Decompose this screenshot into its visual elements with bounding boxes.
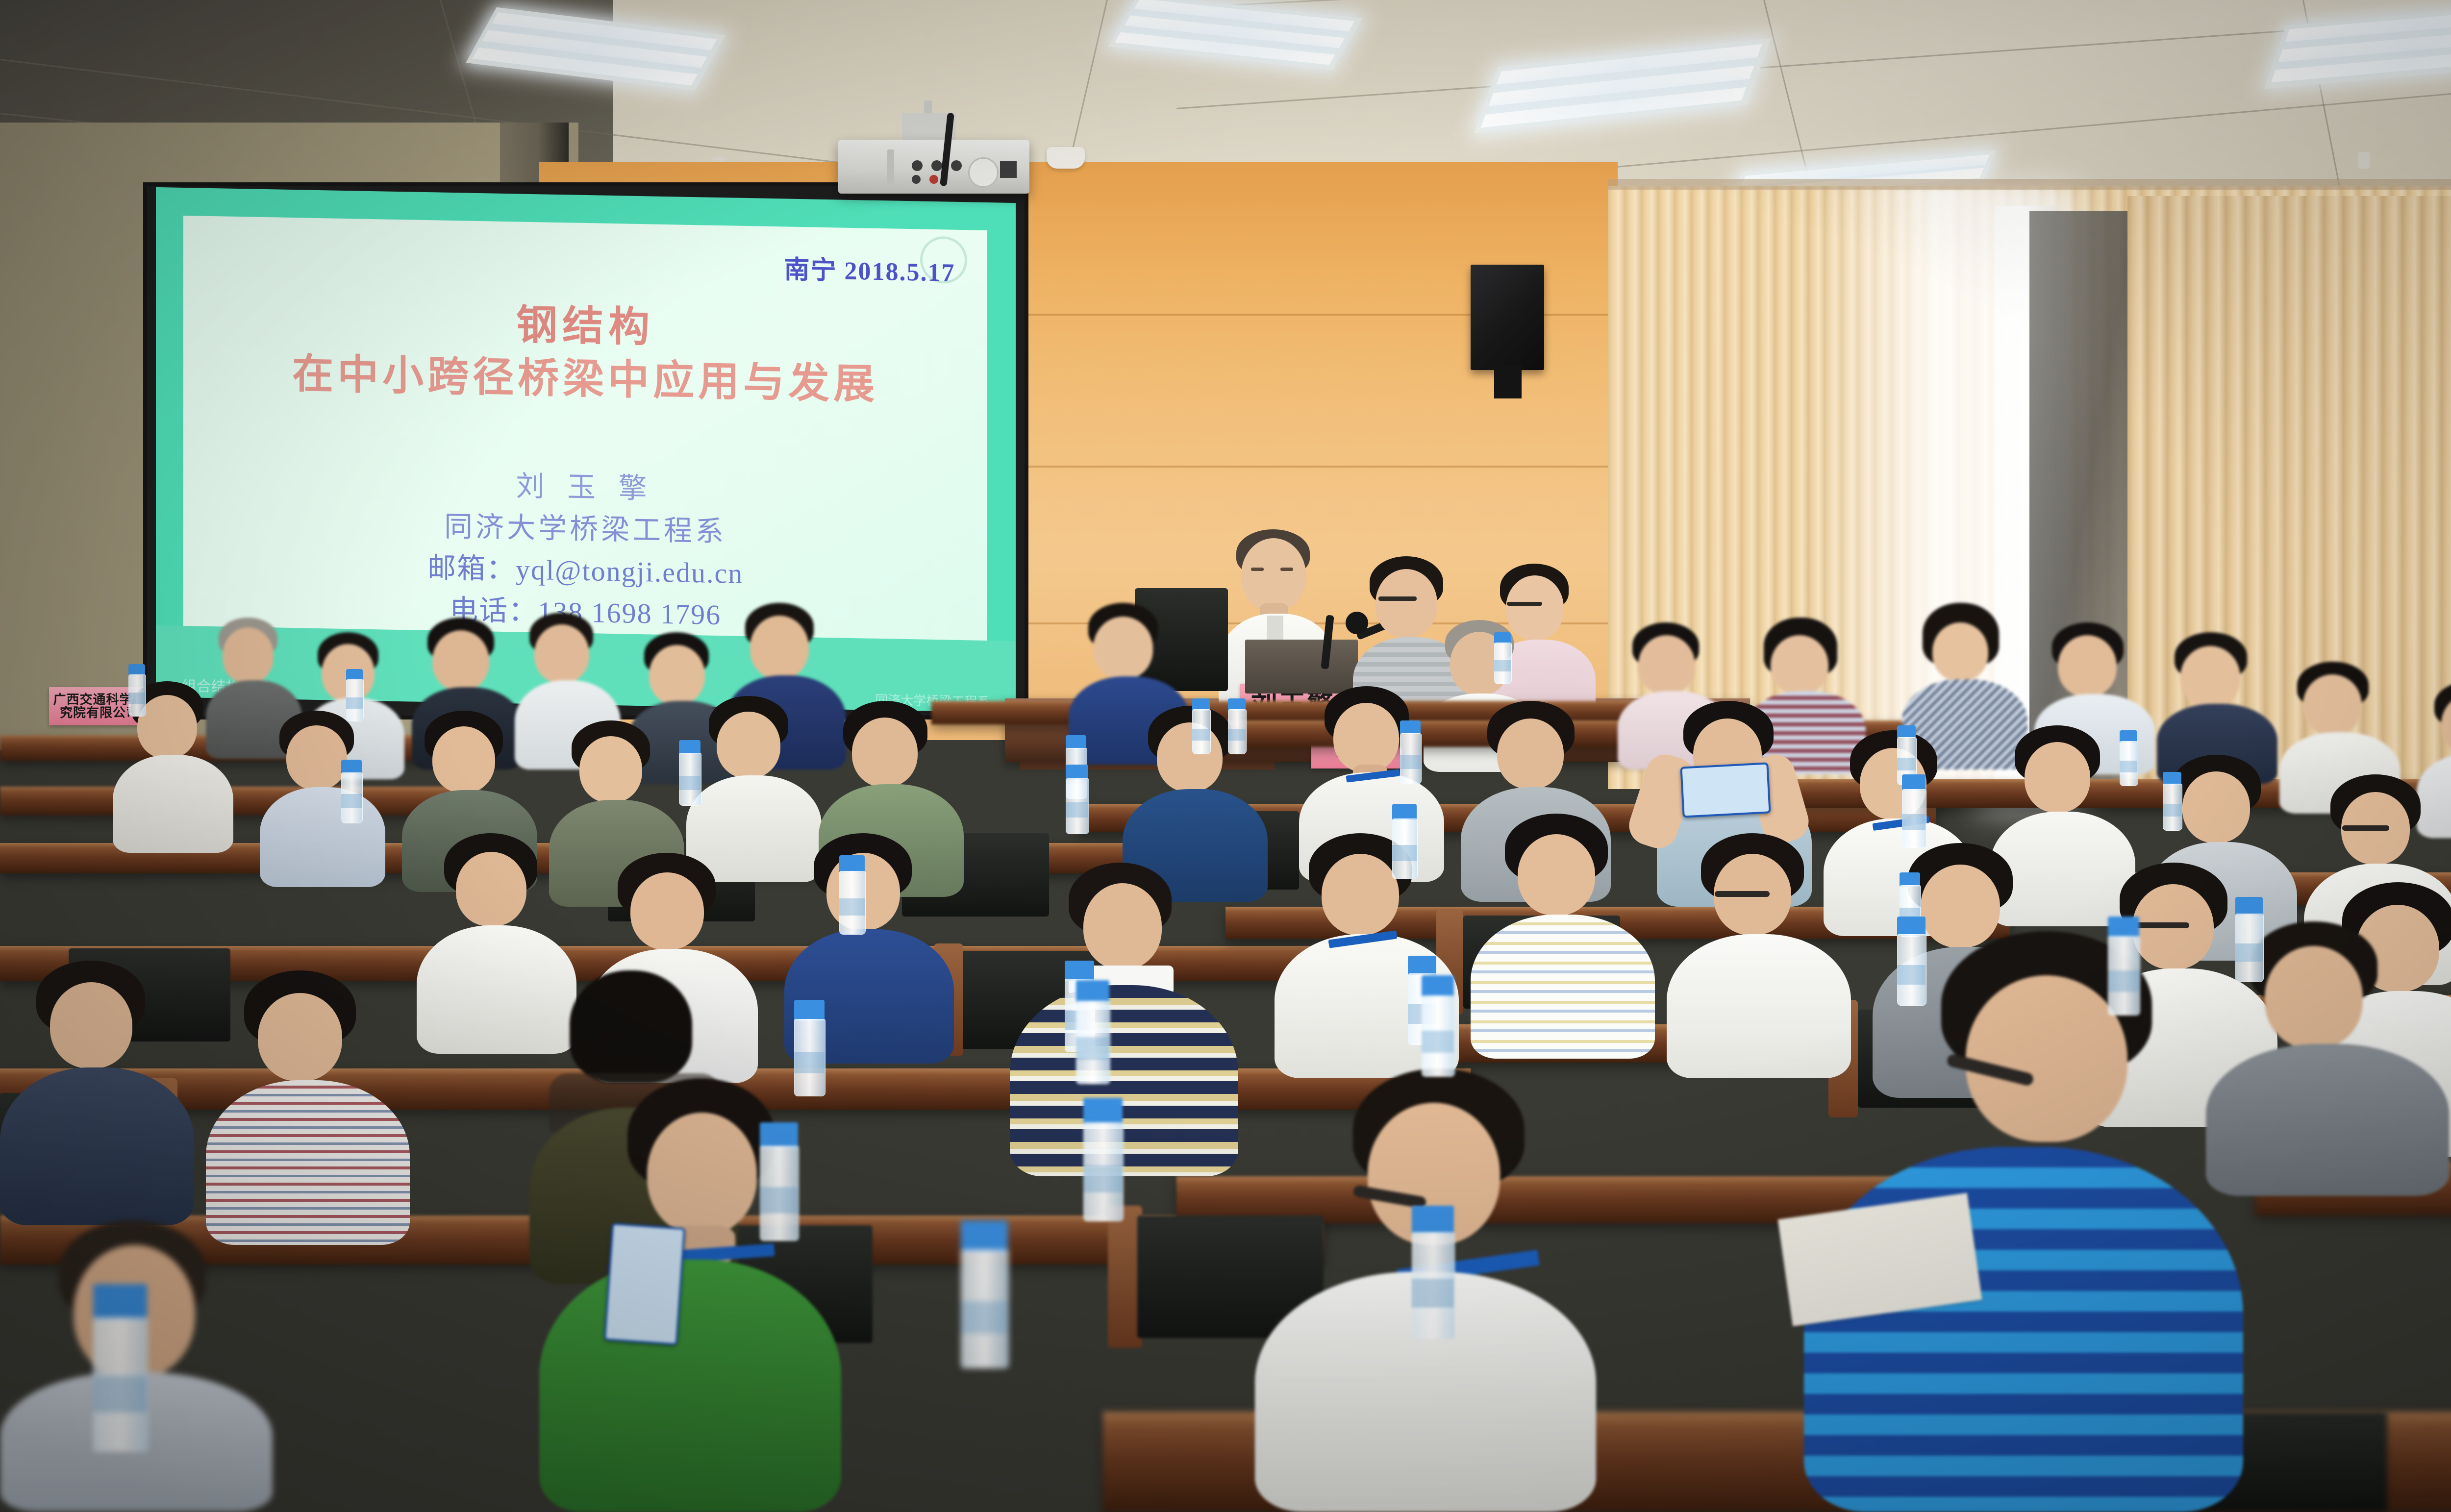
smartphone[interactable] <box>1680 762 1771 818</box>
water-bottle[interactable] <box>341 760 362 822</box>
water-bottle[interactable] <box>1412 1206 1454 1338</box>
water-bottle[interactable] <box>1422 975 1454 1076</box>
water-bottle[interactable] <box>1897 917 1926 1005</box>
curtain-rail <box>1608 179 2451 190</box>
laptop <box>1245 640 1358 694</box>
slide-venue-date: 南宁 2018.5.17 <box>784 248 955 288</box>
attendee-striped-polo <box>1010 863 1240 1176</box>
water-bottle[interactable] <box>1066 765 1088 833</box>
water-bottle[interactable] <box>1228 698 1246 753</box>
water-bottle[interactable] <box>2235 897 2263 981</box>
attendee <box>206 970 412 1245</box>
water-bottle[interactable] <box>93 1284 147 1451</box>
water-bottle[interactable] <box>1192 698 1210 753</box>
water-bottle[interactable] <box>2163 772 2181 830</box>
glasses-icon <box>1715 891 1770 897</box>
attendee <box>0 961 196 1225</box>
water-bottle[interactable] <box>961 1220 1008 1367</box>
wall-speaker <box>1471 265 1544 370</box>
water-bottle[interactable] <box>128 664 145 716</box>
smartphone[interactable] <box>604 1223 685 1345</box>
water-bottle[interactable] <box>1400 720 1421 783</box>
conference-room-photo: 南宁 2018.5.17 钢结构 在中小跨径桥梁中应用与发展 刘 玉 擎 同济大… <box>0 0 2451 1512</box>
water-bottle[interactable] <box>1494 632 1511 683</box>
attendee <box>260 711 387 887</box>
ceiling-projector <box>838 140 1029 194</box>
water-bottle[interactable] <box>1902 774 1926 847</box>
water-bottle[interactable] <box>2120 730 2137 785</box>
attendee <box>1471 814 1657 1059</box>
water-bottle[interactable] <box>1392 804 1417 878</box>
water-bottle[interactable] <box>839 855 865 934</box>
water-bottle[interactable] <box>760 1122 798 1240</box>
water-bottle[interactable] <box>2108 917 2139 1015</box>
water-bottle[interactable] <box>1083 1098 1123 1220</box>
speaker-mount-bracket <box>1494 365 1522 398</box>
water-bottle[interactable] <box>679 740 700 805</box>
water-bottle[interactable] <box>1076 980 1109 1083</box>
water-bottle[interactable] <box>346 669 363 720</box>
glasses-icon <box>2133 922 2189 928</box>
presentation-slide: 南宁 2018.5.17 钢结构 在中小跨径桥梁中应用与发展 刘 玉 擎 同济大… <box>183 216 987 669</box>
sprinkler-head-icon <box>2358 152 2370 169</box>
glasses-icon <box>2342 825 2389 831</box>
water-bottle[interactable] <box>794 1000 825 1095</box>
smoke-detector-icon <box>1047 147 1085 169</box>
